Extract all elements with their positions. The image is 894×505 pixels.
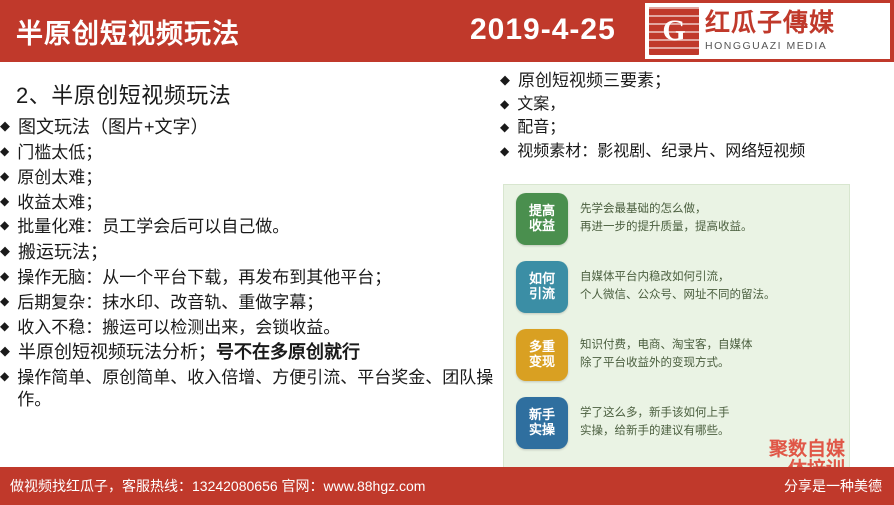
list-item: ◆ 半原创短视频玩法分析；号不在多原创就行 (0, 341, 500, 364)
infographic-desc-line1: 学了这么多，新手该如何上手 (580, 405, 730, 423)
infographic-badge-line2: 实操 (529, 423, 555, 438)
list-item: ◆ 操作简单、原创简单、收入倍增、方便引流、平台奖金、团队操作。 (0, 367, 500, 411)
infographic-description: 先学会最基础的怎么做， 再进一步的提升质量，提高收益。 (580, 201, 753, 237)
diamond-bullet-icon: ◆ (0, 270, 9, 284)
list-item-label: 原创太难； (17, 167, 102, 189)
diamond-bullet-icon: ◆ (0, 145, 9, 159)
left-outline: ◆ 图文玩法（图片+文字） ◆ 门槛太低； ◆ 原创太难； ◆ 收益太难； ◆ (0, 116, 500, 411)
list-item-label: 原创短视频三要素； (518, 70, 671, 92)
infographic-description: 知识付费，电商、淘宝客，自媒体 除了平台收益外的变现方式。 (580, 337, 753, 373)
list-item: ◆ 门槛太低； (0, 142, 500, 164)
diamond-bullet-icon: ◆ (0, 320, 9, 334)
infographic-row: 提高 收益 先学会最基础的怎么做， 再进一步的提升质量，提高收益。 (504, 185, 849, 253)
diamond-bullet-icon: ◆ (0, 170, 9, 184)
list-item-label-emphasis: 号不在多原创就行 (216, 342, 360, 362)
list-item: ◆ 视频素材：影视剧、纪录片、网络短视频 (500, 142, 894, 162)
slide-body: 2、半原创短视频玩法 ◆ 图文玩法（图片+文字） ◆ 门槛太低； ◆ 原创太难；… (0, 62, 894, 467)
list-item: ◆ 后期复杂：抹水印、改音轨、重做字幕； (0, 292, 500, 314)
infographic-badge-line1: 如何 (529, 272, 555, 287)
infographic-image: 提高 收益 先学会最基础的怎么做， 再进一步的提升质量，提高收益。 如何 引流 … (503, 184, 850, 481)
right-column: ◆ 原创短视频三要素； ◆ 文案， ◆ 配音； ◆ 视频素材：影视剧、纪录片、网… (500, 62, 894, 165)
list-item-label: 配音； (517, 118, 565, 138)
list-item-label: 视频素材：影视剧、纪录片、网络短视频 (517, 142, 805, 162)
diamond-bullet-icon: ◆ (0, 219, 9, 233)
list-item-label: 搬运玩法； (18, 241, 108, 264)
diamond-bullet-icon: ◆ (500, 145, 509, 159)
infographic-badge-line1: 多重 (529, 340, 555, 355)
infographic-badge: 新手 实操 (516, 397, 568, 449)
diamond-bullet-icon: ◆ (500, 121, 509, 135)
infographic-badge-line2: 收益 (529, 219, 555, 234)
infographic-row: 多重 变现 知识付费，电商、淘宝客，自媒体 除了平台收益外的变现方式。 (504, 321, 849, 389)
logo-chinese-name: 红瓜子傳媒 (705, 11, 835, 36)
infographic-badge-line2: 变现 (529, 355, 555, 370)
infographic-description: 自媒体平台内稳改如何引流， 个人微信、公众号、网址不同的留法。 (580, 269, 776, 305)
list-item-label: 操作简单、原创简单、收入倍增、方便引流、平台奖金、团队操作。 (17, 367, 500, 411)
list-item: ◆ 批量化难：员工学会后可以自己做。 (0, 216, 500, 238)
slide-footer: 做视频找红瓜子，客服热线：13242080656 官网：www.88hgz.co… (0, 467, 894, 505)
footer-contact: 做视频找红瓜子，客服热线：13242080656 官网：www.88hgz.co… (10, 476, 425, 496)
diamond-bullet-icon: ◆ (500, 98, 509, 112)
diamond-bullet-icon: ◆ (0, 295, 9, 309)
diamond-bullet-icon: ◆ (0, 119, 10, 134)
infographic-badge-line1: 新手 (529, 408, 555, 423)
list-item-label: 批量化难：员工学会后可以自己做。 (17, 216, 289, 238)
list-item-label: 后期复杂：抹水印、改音轨、重做字幕； (17, 292, 323, 314)
diamond-bullet-icon: ◆ (0, 344, 10, 359)
infographic-desc-line2: 再进一步的提升质量，提高收益。 (580, 219, 753, 237)
watermark-line1: 聚数自媒 (769, 440, 845, 460)
infographic-desc-line1: 自媒体平台内稳改如何引流， (580, 269, 776, 287)
list-item: ◆ 图文玩法（图片+文字） (0, 116, 500, 139)
infographic-desc-line1: 先学会最基础的怎么做， (580, 201, 753, 219)
slide: 半原创短视频玩法 2019-4-25 G 红瓜子傳媒 HONGGUAZI MED… (0, 0, 894, 505)
logo-text: 红瓜子傳媒 HONGGUAZI MEDIA (705, 11, 835, 52)
list-item: ◆ 收入不稳：搬运可以检测出来，会锁收益。 (0, 317, 500, 339)
infographic-desc-line1: 知识付费，电商、淘宝客，自媒体 (580, 337, 753, 355)
diamond-bullet-icon: ◆ (0, 244, 10, 259)
list-item: ◆ 文案， (500, 95, 894, 115)
slide-header: 半原创短视频玩法 2019-4-25 G 红瓜子傳媒 HONGGUAZI MED… (0, 0, 894, 62)
logo-mark-icon: G (649, 7, 699, 55)
infographic-desc-line2: 实操，给新手的建议有哪些。 (580, 423, 730, 441)
header-title: 半原创短视频玩法 (16, 12, 240, 51)
list-item-label: 收益太难； (17, 192, 102, 214)
list-item: ◆ 收益太难； (0, 192, 500, 214)
list-item: ◆ 原创太难； (0, 167, 500, 189)
logo-english-name: HONGGUAZI MEDIA (705, 41, 835, 52)
diamond-bullet-icon: ◆ (0, 195, 9, 209)
list-item-label: 收入不稳：搬运可以检测出来，会锁收益。 (17, 317, 340, 339)
list-item-label: 操作无脑：从一个平台下载，再发布到其他平台； (17, 267, 391, 289)
diamond-bullet-icon: ◆ (0, 370, 9, 384)
infographic-badge: 多重 变现 (516, 329, 568, 381)
left-column: 2、半原创短视频玩法 ◆ 图文玩法（图片+文字） ◆ 门槛太低； ◆ 原创太难；… (0, 62, 500, 414)
infographic-badge-line1: 提高 (529, 204, 555, 219)
right-outline: ◆ 原创短视频三要素； ◆ 文案， ◆ 配音； ◆ 视频素材：影视剧、纪录片、网… (500, 70, 894, 162)
list-item-label: 文案， (517, 95, 565, 115)
list-item-label: 半原创短视频玩法分析； (18, 342, 216, 362)
infographic-badge: 如何 引流 (516, 261, 568, 313)
header-date: 2019-4-25 (470, 13, 616, 47)
logo-letter: G (649, 14, 699, 48)
list-item: ◆ 配音； (500, 118, 894, 138)
list-item: ◆ 操作无脑：从一个平台下载，再发布到其他平台； (0, 267, 500, 289)
infographic-badge: 提高 收益 (516, 193, 568, 245)
list-item-label: 图文玩法（图片+文字） (18, 116, 209, 139)
footer-slogan: 分享是一种美德 (784, 476, 882, 496)
brand-logo: G 红瓜子傳媒 HONGGUAZI MEDIA (645, 3, 890, 59)
list-item-label: 门槛太低； (17, 142, 102, 164)
infographic-desc-line2: 除了平台收益外的变现方式。 (580, 355, 753, 373)
infographic-badge-line2: 引流 (529, 287, 555, 302)
list-item: ◆ 原创短视频三要素； (500, 70, 894, 92)
diamond-bullet-icon: ◆ (500, 73, 510, 88)
infographic-row: 如何 引流 自媒体平台内稳改如何引流， 个人微信、公众号、网址不同的留法。 (504, 253, 849, 321)
infographic-desc-line2: 个人微信、公众号、网址不同的留法。 (580, 287, 776, 305)
section-heading: 2、半原创短视频玩法 (16, 78, 500, 110)
list-item: ◆ 搬运玩法； (0, 241, 500, 264)
infographic-description: 学了这么多，新手该如何上手 实操，给新手的建议有哪些。 (580, 405, 730, 441)
